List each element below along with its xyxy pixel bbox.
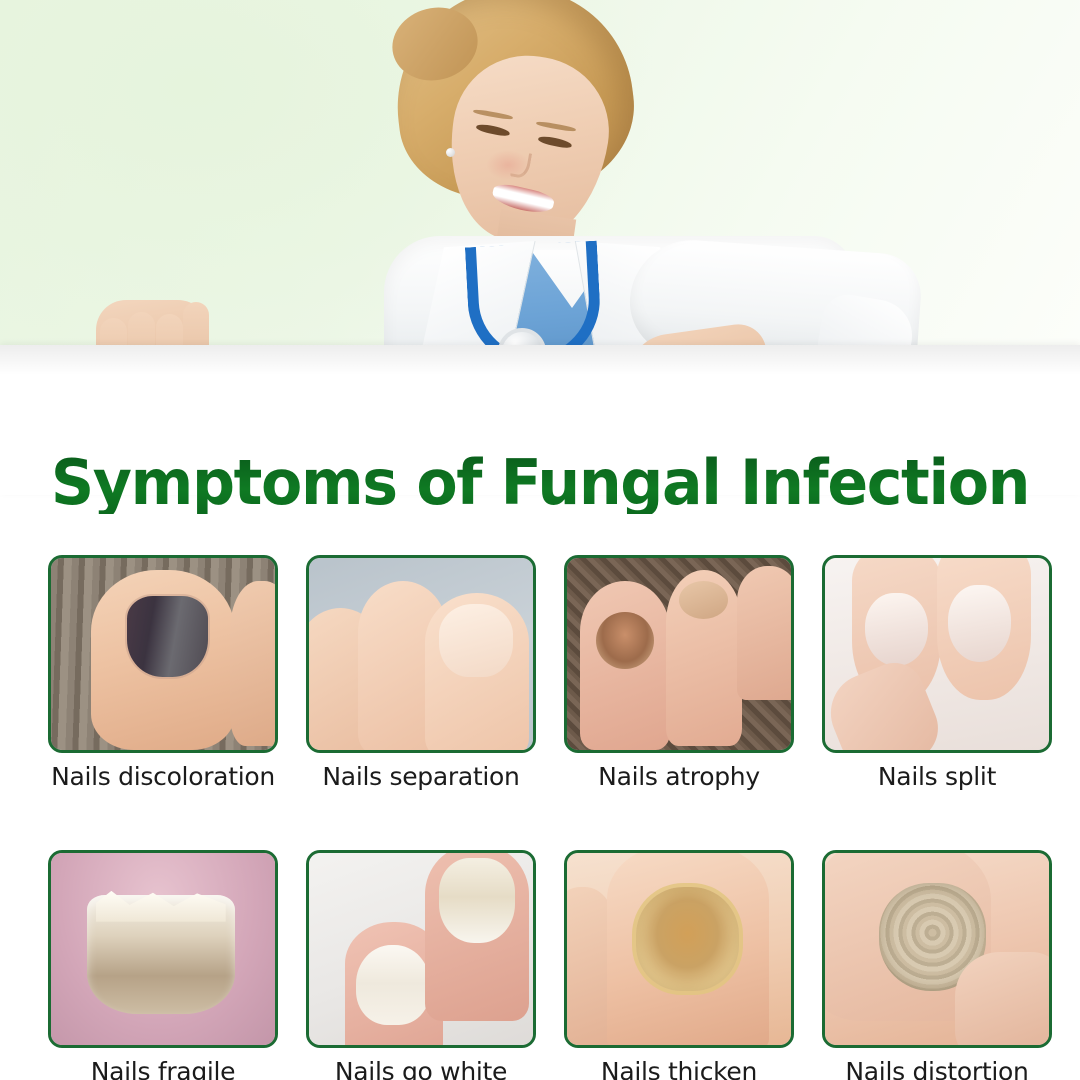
fragile-nail-photo — [51, 853, 275, 1045]
white-nail-1 — [356, 945, 430, 1026]
symptom-label: Nails go white — [335, 1058, 507, 1080]
symptom-thumbnail[interactable] — [306, 850, 536, 1048]
earring — [446, 148, 455, 157]
symptom-label: Nails split — [878, 763, 996, 791]
toe-2 — [955, 952, 1052, 1047]
white-nail-photo — [309, 853, 533, 1045]
fingernail-split-photo — [825, 558, 1049, 750]
symptom-thumbnail[interactable] — [822, 850, 1052, 1048]
toenail-separation-photo — [309, 558, 533, 750]
symptom-label: Nails thicken — [601, 1058, 757, 1080]
doctor-illustration — [300, 0, 920, 360]
symptom-thumbnail[interactable] — [564, 850, 794, 1048]
symptom-card-nails-go-white[interactable]: Nails go white — [306, 850, 536, 1080]
symptom-card-nails-distortion[interactable]: Nails distortion — [822, 850, 1052, 1080]
symptom-card-nails-split[interactable]: Nails split — [822, 555, 1052, 791]
symptom-label: Nails fragile — [91, 1058, 236, 1080]
toenail-atrophy-photo — [567, 558, 791, 750]
symptom-card-nails-fragile[interactable]: Nails fragile — [48, 850, 278, 1080]
symptom-thumbnail[interactable] — [822, 555, 1052, 753]
split-nail-2 — [948, 585, 1011, 662]
symptom-card-nails-discoloration[interactable]: Nails discoloration — [48, 555, 278, 791]
symptom-card-nails-separation[interactable]: Nails separation — [306, 555, 536, 791]
separated-nail — [439, 604, 513, 677]
poster-root: Symptoms of Fungal Infection Nails disco… — [0, 0, 1080, 1080]
symptom-grid: Nails discoloration Nails separation — [48, 555, 1033, 1080]
symptom-row: Nails fragile Nails go white — [48, 850, 1033, 1080]
toe-3 — [737, 566, 794, 700]
white-nail-2 — [439, 858, 515, 942]
distorted-nail-photo — [825, 853, 1049, 1045]
split-nail-1 — [865, 593, 928, 666]
symptom-label: Nails separation — [322, 763, 519, 791]
toenail-discoloration-photo — [51, 558, 275, 750]
symptom-thumbnail[interactable] — [48, 555, 278, 753]
discolored-nail — [127, 596, 208, 677]
page-title: Symptoms of Fungal Infection — [16, 452, 1064, 514]
symptom-label: Nails distortion — [845, 1058, 1028, 1080]
thickened-nail — [636, 887, 739, 991]
symptom-row: Nails discoloration Nails separation — [48, 555, 1033, 791]
symptom-thumbnail[interactable] — [564, 555, 794, 753]
symptom-card-nails-thicken[interactable]: Nails thicken — [564, 850, 794, 1080]
symptom-card-nails-atrophy[interactable]: Nails atrophy — [564, 555, 794, 791]
symptom-label: Nails atrophy — [598, 763, 760, 791]
thickened-nail-photo — [567, 853, 791, 1045]
symptom-label: Nails discoloration — [51, 763, 275, 791]
symptom-thumbnail[interactable] — [48, 850, 278, 1048]
symptom-thumbnail[interactable] — [306, 555, 536, 753]
adjacent-toe — [230, 581, 278, 746]
